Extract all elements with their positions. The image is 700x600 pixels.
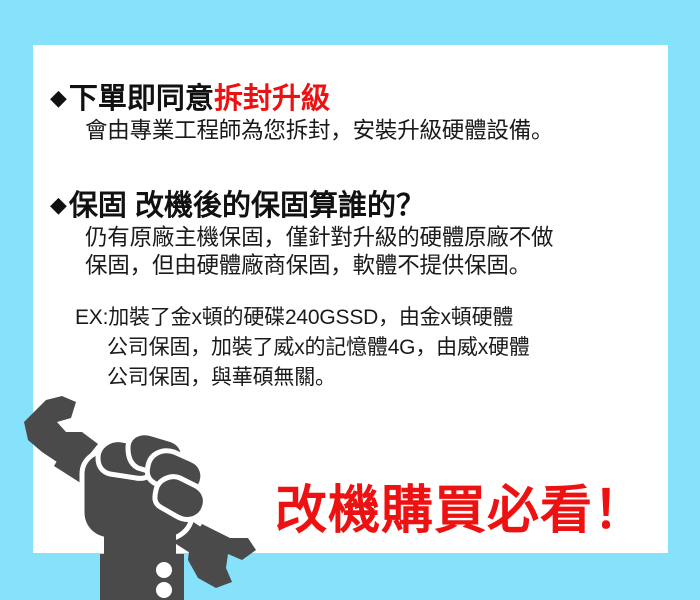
section-2-body-line: 保固，但由硬體廠商保固，軟體不提供保固。 — [85, 252, 668, 280]
section-warranty: ◆保固 改機後的保固算誰的？ 仍有原廠主機保固，僅針對升級的硬體原廠不做 保固，… — [33, 190, 668, 279]
example-block: EX:加裝了金x頓的硬碟240GSSD，由金x頓硬體 公司保固，加裝了威x的記憶… — [33, 303, 700, 392]
diamond-bullet-icon: ◆ — [50, 85, 67, 110]
hand-holding-wrench-icon — [16, 388, 266, 600]
example-line: 公司保固，加裝了威x的記憶體4G，由威x硬體 — [75, 333, 700, 363]
poster-canvas: ◆下單即同意拆封升級 會由專業工程師為您拆封，安裝升級硬體設備。 ◆保固 改機後… — [0, 0, 700, 600]
section-1-body-line: 會由專業工程師為您拆封，安裝升級硬體設備。 — [85, 117, 668, 145]
section-unboxing-upgrade: ◆下單即同意拆封升級 會由專業工程師為您拆封，安裝升級硬體設備。 — [33, 83, 668, 145]
section-2-heading-plain: 保固 改機後的保固算誰的？ — [69, 190, 425, 222]
button-upper — [156, 562, 172, 578]
section-1-heading-plain: 下單即同意 — [69, 83, 214, 115]
diamond-bullet-icon: ◆ — [50, 192, 67, 217]
section-1-body: 會由專業工程師為您拆封，安裝升級硬體設備。 — [33, 117, 668, 145]
sleeve-cuff — [100, 554, 184, 600]
section-2-body: 仍有原廠主機保固，僅針對升級的硬體原廠不做 保固，但由硬體廠商保固，軟體不提供保… — [33, 224, 668, 280]
section-1-heading-accent: 拆封升級 — [214, 83, 330, 115]
button-lower — [156, 582, 172, 598]
red-headline: 改機購買必看！ — [275, 485, 646, 537]
section-1-heading: ◆下單即同意拆封升級 — [33, 83, 668, 117]
section-2-body-line: 仍有原廠主機保固，僅針對升級的硬體原廠不做 — [85, 224, 668, 252]
example-line: EX:加裝了金x頓的硬碟240GSSD，由金x頓硬體 — [75, 303, 700, 333]
section-2-heading: ◆保固 改機後的保固算誰的？ — [33, 190, 668, 224]
